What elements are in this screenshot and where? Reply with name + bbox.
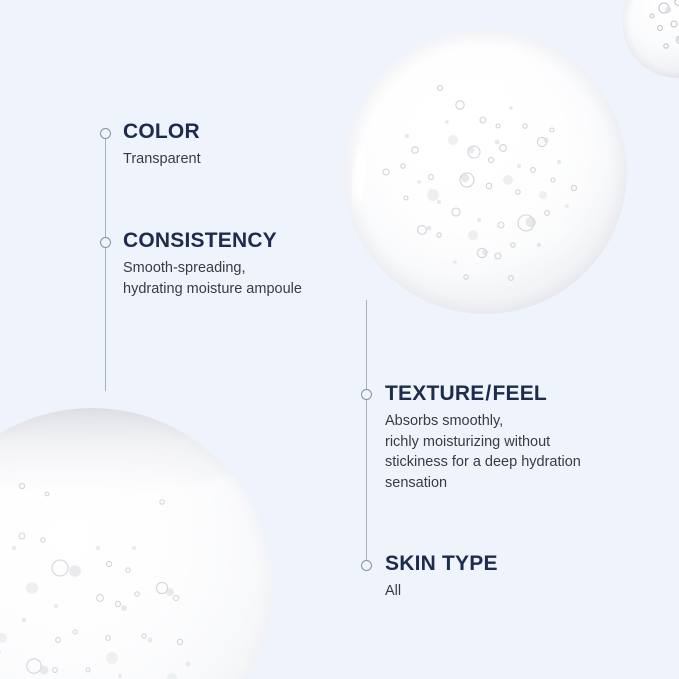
- circle-outline-icon: [361, 389, 372, 400]
- spec-heading-texture-part1: TEXTURE: [385, 382, 484, 405]
- spec-heading-color: COLOR: [123, 120, 201, 143]
- spec-heading-texture-part2: FEEL: [492, 382, 546, 405]
- droplet-rim: [343, 30, 627, 314]
- circle-outline-icon: [100, 237, 111, 248]
- spec-item-consistency: CONSISTENCY Smooth-spreading, hydrating …: [123, 229, 302, 299]
- connector-line-right: [366, 300, 367, 566]
- spec-item-texture: TEXTURE/FEEL Absorbs smoothly, richly mo…: [385, 382, 581, 493]
- gel-droplet-large: [343, 30, 627, 314]
- gel-droplet-bottom: [0, 408, 272, 679]
- connector-line-left: [105, 133, 106, 391]
- infographic-canvas: COLOR Transparent CONSISTENCY Smooth-spr…: [0, 0, 679, 679]
- spec-heading-consistency: CONSISTENCY: [123, 229, 302, 252]
- circle-outline-icon: [100, 128, 111, 139]
- spec-description-skintype: All: [385, 581, 498, 602]
- spec-description-color: Transparent: [123, 149, 201, 170]
- spec-item-color: COLOR Transparent: [123, 120, 201, 170]
- circle-outline-icon: [361, 560, 372, 571]
- spec-description-consistency: Smooth-spreading, hydrating moisture amp…: [123, 258, 302, 299]
- spec-heading-skintype: SKIN TYPE: [385, 552, 498, 575]
- spec-description-texture: Absorbs smoothly, richly moisturizing wi…: [385, 411, 581, 493]
- droplet-rim: [622, 0, 679, 78]
- spec-heading-texture: TEXTURE/FEEL: [385, 382, 581, 405]
- gel-droplet-small: [622, 0, 679, 78]
- spec-item-skintype: SKIN TYPE All: [385, 552, 498, 602]
